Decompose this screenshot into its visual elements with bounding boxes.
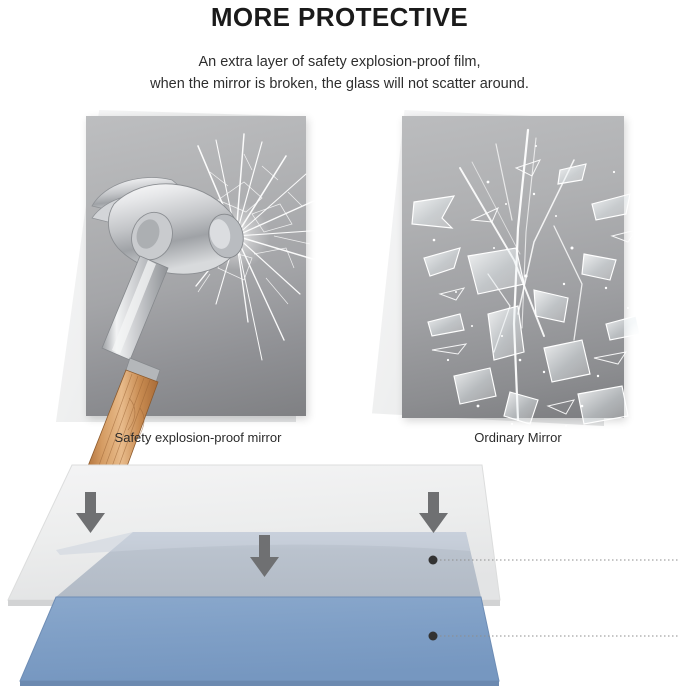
layer-diagram: HD silver mirror Explosion-proof film — [0, 455, 679, 699]
panel-ordinary-mirror: Ordinary Mirror — [368, 108, 668, 458]
explosion-proof-film-sheet — [20, 597, 499, 681]
page-title: MORE PROTECTIVE — [0, 0, 679, 33]
glass-shards — [412, 164, 640, 424]
shattered-mirror-illustration — [368, 108, 668, 458]
explosion-proof-film-edge — [20, 681, 499, 686]
hammer-cracked-mirror-illustration — [48, 108, 348, 458]
header: MORE PROTECTIVE An extra layer of safety… — [0, 0, 679, 95]
panel-caption-ordinary: Ordinary Mirror — [368, 430, 668, 445]
dot-marker-mirror — [429, 556, 438, 565]
layer-diagram-svg — [0, 455, 679, 699]
panel-caption-safety: Safety explosion-proof mirror — [48, 430, 348, 445]
subtitle-line-1: An extra layer of safety explosion-proof… — [198, 54, 480, 70]
infographic-page: MORE PROTECTIVE An extra layer of safety… — [0, 0, 679, 699]
panel-safety-mirror: Safety explosion-proof mirror — [48, 108, 348, 458]
subtitle: An extra layer of safety explosion-proof… — [0, 51, 679, 95]
subtitle-line-2: when the mirror is broken, the glass wil… — [0, 73, 679, 95]
comparison-panels: Safety explosion-proof mirror — [0, 108, 679, 458]
dot-marker-film — [429, 632, 438, 641]
